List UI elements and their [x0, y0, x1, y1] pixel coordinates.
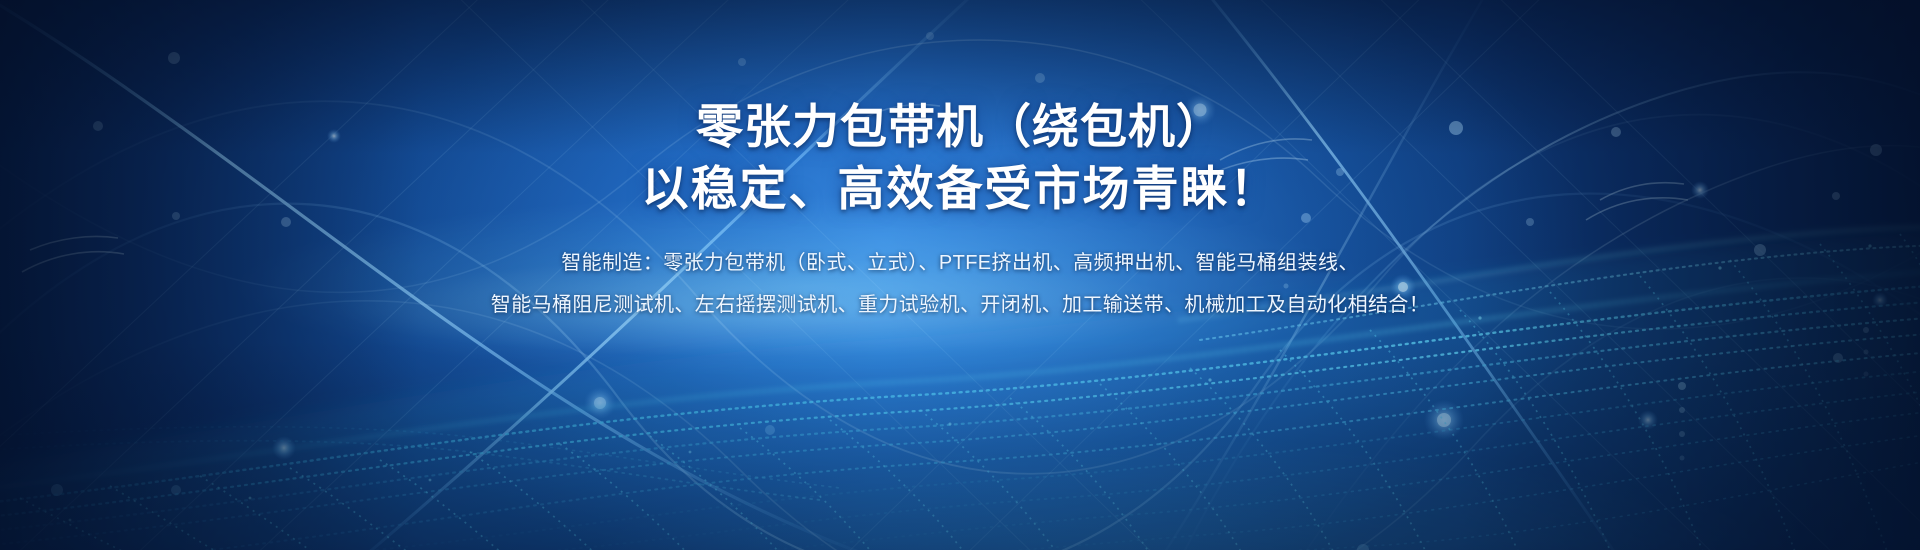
subtitle-line-1: 智能制造：零张力包带机（卧式、立式）、PTFE挤出机、高频押出机、智能马桶组装线…: [0, 242, 1920, 284]
headline-line-2: 以稳定、高效备受市场青睐！: [0, 158, 1920, 220]
subtitle-block: 智能制造：零张力包带机（卧式、立式）、PTFE挤出机、高频押出机、智能马桶组装线…: [0, 242, 1920, 326]
subtitle-line-2: 智能马桶阻尼测试机、左右摇摆测试机、重力试验机、开闭机、加工输送带、机械加工及自…: [0, 284, 1920, 326]
banner-content: 零张力包带机（绕包机） 以稳定、高效备受市场青睐！ 智能制造：零张力包带机（卧式…: [0, 0, 1920, 326]
headline-line-1: 零张力包带机（绕包机）: [0, 96, 1920, 158]
hero-banner: 零张力包带机（绕包机） 以稳定、高效备受市场青睐！ 智能制造：零张力包带机（卧式…: [0, 0, 1920, 550]
